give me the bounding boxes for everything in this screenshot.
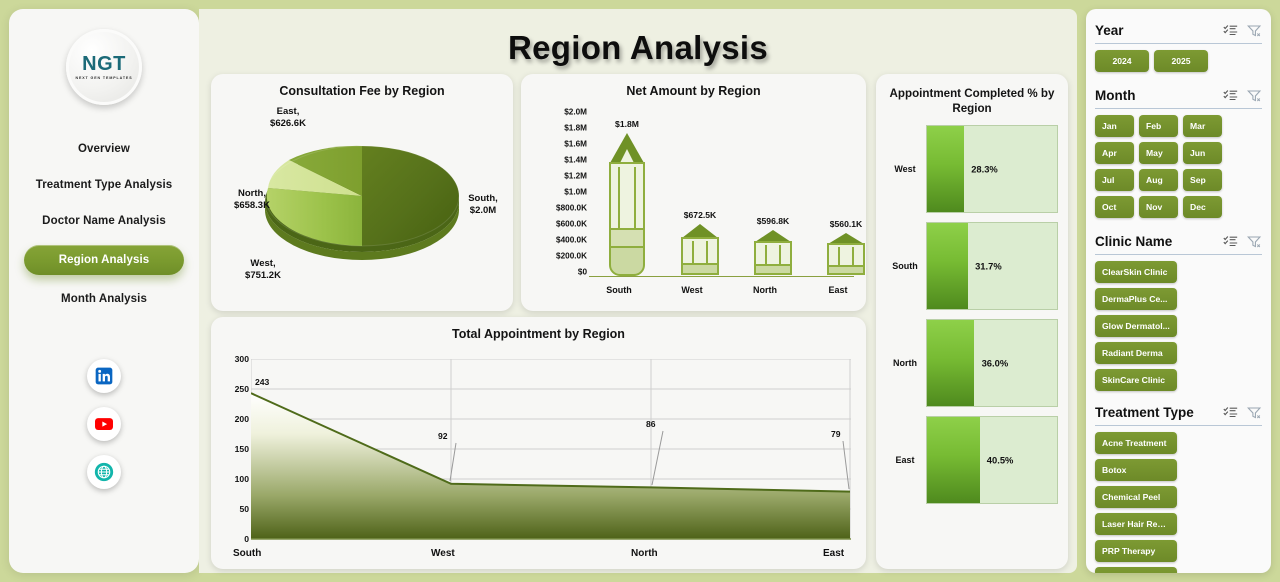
area-point-south: 243	[255, 377, 269, 387]
net-amount-bar-chart[interactable]: $0 $200.0K $400.0K $600.0K $800.0K $1.0M…	[531, 104, 858, 303]
filter-actions-clinic-name	[1223, 235, 1262, 249]
youtube-button[interactable]	[87, 407, 121, 441]
net-amount-bar-card: Net Amount by Region $0 $200.0K $400.0K …	[521, 74, 866, 311]
kpi-track-south: 31.7%	[926, 222, 1058, 310]
total-appointment-area-title: Total Appointment by Region	[211, 317, 866, 341]
chip-treatment-whitening[interactable]: Skin Whitening	[1095, 567, 1177, 573]
kpi-value-north: 36.0%	[982, 358, 1009, 369]
filter-rule-treatment-type	[1095, 425, 1262, 426]
sidebar-item-region-analysis[interactable]: Region Analysis	[24, 245, 184, 275]
filter-chips-treatment-type: Acne Treatment Botox Chemical Peel Laser…	[1095, 432, 1262, 573]
bar-ytick-3: $600.0K	[556, 220, 587, 229]
main-content: Region Analysis Consultation Fee by Regi…	[199, 9, 1077, 573]
bar-ytick-0: $0	[578, 268, 587, 277]
filter-title-treatment-type: Treatment Type	[1095, 405, 1194, 420]
kpi-track-west: 28.3%	[926, 125, 1058, 213]
filter-rule-year	[1095, 43, 1262, 44]
bar-ytick-6: $1.2M	[564, 172, 587, 181]
bar-xlabel-south: South	[584, 285, 654, 295]
pie-label-west: West, $751.2K	[233, 258, 293, 282]
clear-filter-icon[interactable]	[1247, 24, 1262, 38]
chip-month-jun[interactable]: Jun	[1183, 142, 1222, 164]
filter-chips-year: 2024 2025	[1095, 50, 1262, 72]
pencil-icon-west	[677, 222, 723, 277]
clear-filter-icon[interactable]	[1247, 89, 1262, 103]
kpi-label-west: West	[884, 164, 926, 174]
area-ytick-300: 300	[223, 354, 249, 364]
pie-label-west-name: West	[250, 258, 273, 269]
chip-treatment-laser[interactable]: Laser Hair Rem...	[1095, 513, 1177, 535]
pie-label-south: South, $2.0M	[455, 193, 511, 217]
appointment-completed-card: Appointment Completed % by Region West 2…	[876, 74, 1068, 569]
bar-north-value: $596.8K	[757, 216, 790, 226]
chip-year-2024[interactable]: 2024	[1095, 50, 1149, 72]
kpi-row-east[interactable]: East 40.5%	[884, 416, 1058, 504]
pie-chart[interactable]: South, $2.0M North, $658.3K West, $751.2…	[211, 98, 513, 288]
chip-month-dec[interactable]: Dec	[1183, 196, 1222, 218]
kpi-value-south: 31.7%	[975, 261, 1002, 272]
filter-actions-year	[1223, 24, 1262, 38]
chip-month-nov[interactable]: Nov	[1139, 196, 1178, 218]
linkedin-icon	[94, 366, 114, 386]
bar-ytick-1: $200.0K	[556, 252, 587, 261]
chip-clinic-clearskin[interactable]: ClearSkin Clinic	[1095, 261, 1177, 283]
sidebar-item-overview[interactable]: Overview	[9, 131, 199, 167]
filter-rule-clinic-name	[1095, 254, 1262, 255]
bar-ytick-4: $800.0K	[556, 204, 587, 213]
kpi-value-east: 40.5%	[987, 455, 1014, 466]
area-svg	[251, 359, 851, 541]
pie-label-north-value: $658.3K	[234, 200, 270, 211]
social-links	[87, 359, 121, 489]
page-title: Region Analysis	[199, 9, 1077, 67]
filter-actions-month	[1223, 89, 1262, 103]
chip-treatment-prp[interactable]: PRP Therapy	[1095, 540, 1177, 562]
checklist-icon[interactable]	[1223, 24, 1238, 38]
kpi-track-east: 40.5%	[926, 416, 1058, 504]
kpi-label-south: South	[884, 261, 926, 271]
chip-month-may[interactable]: May	[1139, 142, 1178, 164]
logo-text: NGT	[82, 54, 126, 74]
pie-label-south-value: $2.0M	[470, 205, 496, 216]
bar-ytick-10: $2.0M	[564, 108, 587, 117]
logo-subtitle: NEXT GEN TEMPLATES	[75, 76, 132, 80]
filter-panel: Year 2024 2025 Month	[1086, 9, 1271, 573]
bar-xlabel-north: North	[730, 285, 800, 295]
bar-north[interactable]: $596.8K	[743, 216, 803, 277]
filter-header-month: Month	[1095, 88, 1262, 103]
checklist-icon[interactable]	[1223, 235, 1238, 249]
kpi-row-west[interactable]: West 28.3%	[884, 125, 1058, 213]
area-xlabel-west: West	[431, 548, 455, 559]
app-logo: NGT NEXT GEN TEMPLATES	[66, 29, 142, 105]
filter-header-year: Year	[1095, 23, 1262, 38]
chip-clinic-glow[interactable]: Glow Dermatol...	[1095, 315, 1177, 337]
area-ytick-50: 50	[223, 504, 249, 514]
filter-title-month: Month	[1095, 88, 1135, 103]
sidebar-nav: Overview Treatment Type Analysis Doctor …	[9, 131, 199, 317]
chip-treatment-botox[interactable]: Botox	[1095, 459, 1177, 481]
pie-label-north-name: North	[238, 188, 263, 199]
pie-label-west-value: $751.2K	[245, 270, 281, 281]
sidebar: NGT NEXT GEN TEMPLATES Overview Treatmen…	[9, 9, 199, 573]
area-xlabel-south: South	[233, 548, 261, 559]
pie-label-east-value: $626.6K	[270, 118, 306, 129]
area-ytick-250: 250	[223, 384, 249, 394]
consultation-fee-pie-card: Consultation Fee by Region	[211, 74, 513, 311]
area-point-north: 86	[646, 419, 656, 429]
clear-filter-icon[interactable]	[1247, 235, 1262, 249]
area-xlabel-east: East	[823, 548, 844, 559]
pencil-icon-north	[750, 228, 796, 277]
linkedin-button[interactable]	[87, 359, 121, 393]
chip-month-feb[interactable]: Feb	[1139, 115, 1178, 137]
filter-chips-clinic-name: ClearSkin Clinic DermaPlus Ce... Glow De…	[1095, 261, 1262, 391]
chip-month-apr[interactable]: Apr	[1095, 142, 1134, 164]
filter-header-clinic-name: Clinic Name	[1095, 234, 1262, 249]
area-point-east: 79	[831, 429, 841, 439]
website-button[interactable]	[87, 455, 121, 489]
pie-label-north: North, $658.3K	[223, 188, 281, 212]
clear-filter-icon[interactable]	[1247, 406, 1262, 420]
pie-label-south-name: South	[468, 193, 495, 204]
pencil-icon-south	[604, 131, 650, 277]
filter-actions-treatment-type	[1223, 406, 1262, 420]
chip-clinic-radiant[interactable]: Radiant Derma	[1095, 342, 1177, 364]
bar-ytick-2: $400.0K	[556, 236, 587, 245]
area-ytick-150: 150	[223, 444, 249, 454]
area-point-west: 92	[438, 431, 448, 441]
bar-ytick-9: $1.8M	[564, 124, 587, 133]
bar-y-axis: $0 $200.0K $400.0K $600.0K $800.0K $1.0M…	[531, 112, 589, 272]
bar-xlabel-east: East	[803, 285, 873, 295]
pie-label-east-name: East	[277, 106, 297, 117]
kpi-label-north: North	[884, 358, 926, 368]
checklist-icon[interactable]	[1223, 89, 1238, 103]
bar-xlabel-west: West	[657, 285, 727, 295]
area-xlabel-north: North	[631, 548, 658, 559]
kpi-value-west: 28.3%	[971, 164, 998, 175]
chip-treatment-chemical[interactable]: Chemical Peel	[1095, 486, 1177, 508]
chip-month-oct[interactable]: Oct	[1095, 196, 1134, 218]
kpi-row-north[interactable]: North 36.0%	[884, 319, 1058, 407]
kpi-fill-south	[927, 223, 968, 309]
chip-month-jul[interactable]: Jul	[1095, 169, 1134, 191]
bar-series: $1.8M $672.5K	[591, 112, 854, 277]
chip-clinic-skincare[interactable]: SkinCare Clinic	[1095, 369, 1177, 391]
bar-east-value: $560.1K	[830, 219, 863, 229]
appointment-completed-title: Appointment Completed % by Region	[876, 74, 1068, 116]
bar-west[interactable]: $672.5K	[670, 210, 730, 277]
bar-baseline	[589, 276, 854, 277]
globe-icon	[93, 461, 115, 483]
kpi-label-east: East	[884, 455, 926, 465]
area-ytick-100: 100	[223, 474, 249, 484]
pencil-icon-east	[823, 231, 869, 277]
kpi-fill-west	[927, 126, 964, 212]
youtube-icon	[93, 413, 115, 435]
consultation-fee-pie-title: Consultation Fee by Region	[211, 74, 513, 98]
sidebar-item-doctor-name-analysis[interactable]: Doctor Name Analysis	[9, 203, 199, 239]
chip-month-sep[interactable]: Sep	[1183, 169, 1222, 191]
bar-east[interactable]: $560.1K	[816, 219, 876, 277]
chip-year-2025[interactable]: 2025	[1154, 50, 1208, 72]
filter-title-clinic-name: Clinic Name	[1095, 234, 1172, 249]
filter-chips-month: Jan Feb Mar Apr May Jun Jul Aug Sep Oct …	[1095, 115, 1262, 218]
kpi-fill-north	[927, 320, 974, 406]
kpi-track-north: 36.0%	[926, 319, 1058, 407]
area-ytick-0: 0	[223, 534, 249, 544]
bar-south[interactable]: $1.8M	[597, 119, 657, 277]
chip-clinic-dermaplus[interactable]: DermaPlus Ce...	[1095, 288, 1177, 310]
sidebar-item-month-analysis[interactable]: Month Analysis	[9, 281, 199, 317]
bar-west-value: $672.5K	[684, 210, 717, 220]
dashboard-page: NGT NEXT GEN TEMPLATES Overview Treatmen…	[0, 0, 1280, 582]
chip-month-aug[interactable]: Aug	[1139, 169, 1178, 191]
filter-header-treatment-type: Treatment Type	[1095, 405, 1262, 420]
chip-month-jan[interactable]: Jan	[1095, 115, 1134, 137]
area-ytick-200: 200	[223, 414, 249, 424]
sidebar-item-treatment-type-analysis[interactable]: Treatment Type Analysis	[9, 167, 199, 203]
filter-rule-month	[1095, 108, 1262, 109]
net-amount-bar-title: Net Amount by Region	[521, 74, 866, 98]
chip-month-mar[interactable]: Mar	[1183, 115, 1222, 137]
filter-title-year: Year	[1095, 23, 1124, 38]
bar-ytick-5: $1.0M	[564, 188, 587, 197]
bar-ytick-8: $1.6M	[564, 140, 587, 149]
bar-ytick-7: $1.4M	[564, 156, 587, 165]
pie-label-east: East, $626.6K	[259, 106, 317, 130]
kpi-fill-east	[927, 417, 980, 503]
total-appointment-area-chart[interactable]: 300 250 200 150 100 50 0	[223, 351, 854, 561]
bar-south-value: $1.8M	[615, 119, 639, 129]
chip-treatment-acne[interactable]: Acne Treatment	[1095, 432, 1177, 454]
total-appointment-area-card: Total Appointment by Region 300 250 200 …	[211, 317, 866, 569]
checklist-icon[interactable]	[1223, 406, 1238, 420]
kpi-row-south[interactable]: South 31.7%	[884, 222, 1058, 310]
